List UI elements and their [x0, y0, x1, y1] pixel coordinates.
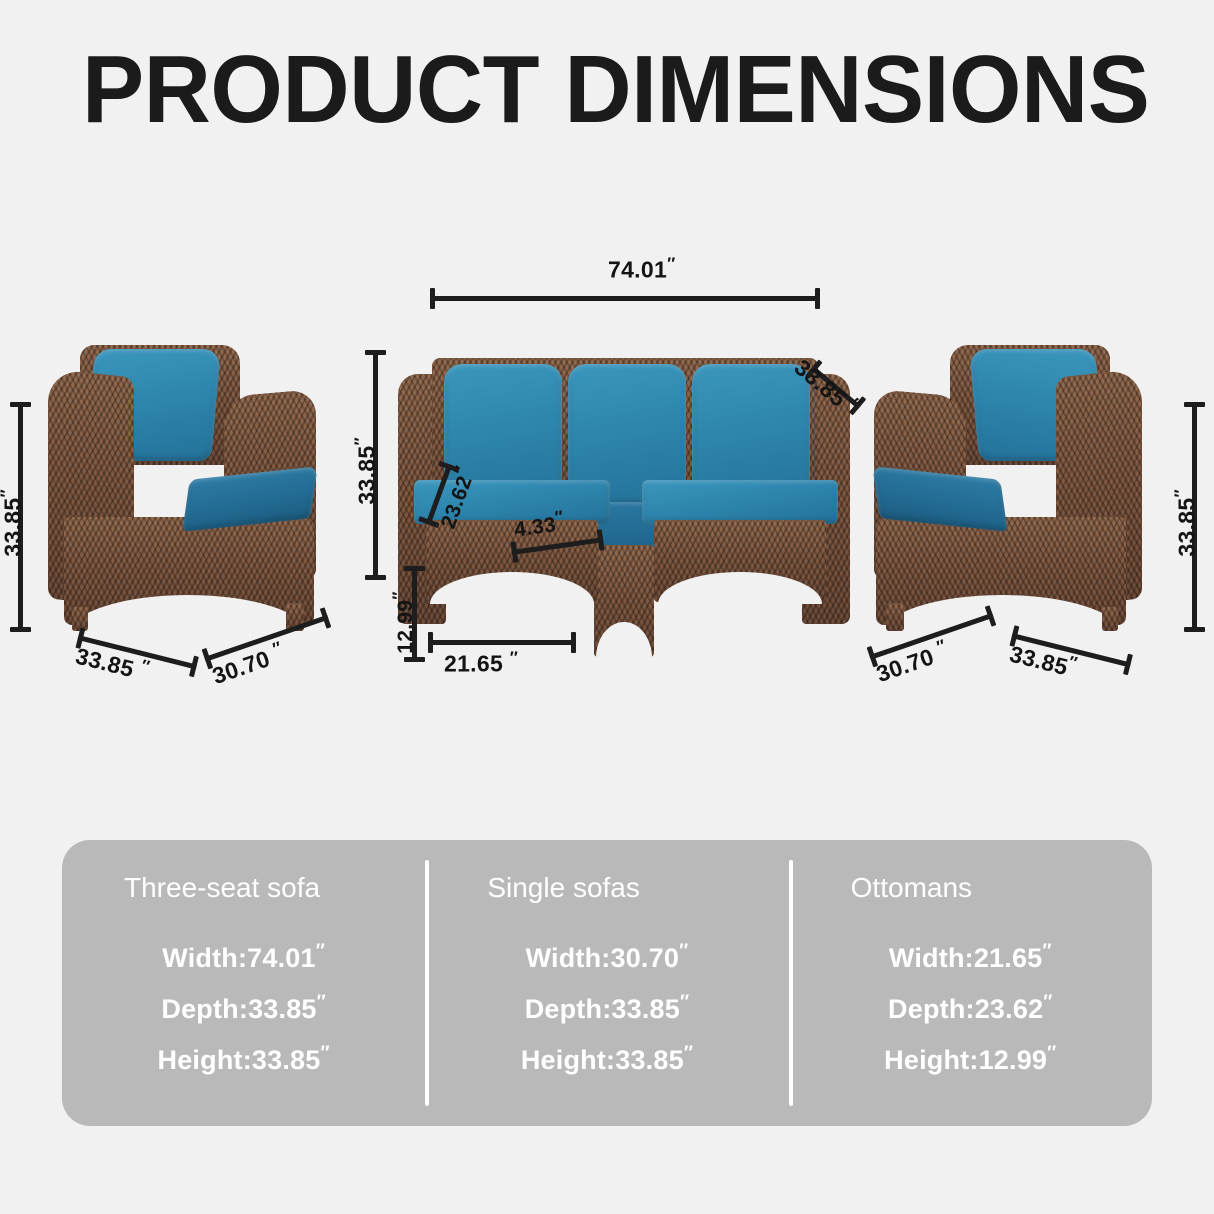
- ottoman-height-label: 12.99″: [389, 591, 418, 654]
- spec-row-width: Width:30.70″: [526, 941, 689, 974]
- chair-foot-right: [886, 603, 904, 631]
- spec-row-height: Height:33.85″: [158, 1043, 330, 1076]
- inch-mark: ″: [316, 941, 325, 962]
- furniture-diagram: 33.85″ 33.85 ″ 30.70 ″: [0, 230, 1214, 750]
- spec-label: Width:: [889, 943, 974, 973]
- infographic-canvas: PRODUCT DIMENSIONS 33.85″ 33.85 ″: [0, 0, 1214, 1214]
- ottoman-width-label: 21.65 ″: [444, 648, 518, 678]
- inch-mark: ″: [679, 941, 688, 962]
- inch-mark: ″: [320, 1043, 329, 1064]
- inch-mark: ″: [1042, 941, 1051, 962]
- spec-label: Height:: [521, 1045, 615, 1075]
- spec-label: Width:: [526, 943, 611, 973]
- spec-row-width: Width:74.01″: [162, 941, 325, 974]
- spec-value: 21.65: [974, 943, 1043, 973]
- spec-column-three-seat-sofa: Three-seat sofa Width:74.01″ Depth:33.85…: [62, 840, 425, 1126]
- inch-mark: ″: [1043, 992, 1052, 1013]
- spec-label: Width:: [162, 943, 247, 973]
- inch-mark: ″: [1047, 1043, 1056, 1064]
- spec-row-height: Height:33.85″: [521, 1043, 693, 1076]
- spec-row-depth: Depth:33.85″: [525, 992, 690, 1025]
- ottoman-width-line: [428, 640, 576, 645]
- inch-mark: ″: [684, 1043, 693, 1064]
- spec-panel: Three-seat sofa Width:74.01″ Depth:33.85…: [62, 840, 1152, 1126]
- spec-value: 30.70: [611, 943, 680, 973]
- sofa-width-line: [430, 296, 820, 301]
- ottoman-right-cushion: [642, 480, 838, 524]
- spec-label: Depth:: [888, 994, 975, 1024]
- spec-label: Height:: [158, 1045, 252, 1075]
- inch-mark: ″: [317, 992, 326, 1013]
- spec-label: Depth:: [161, 994, 248, 1024]
- spec-column-ottomans: Ottomans Width:21.65″ Depth:23.62″ Heigh…: [789, 840, 1152, 1126]
- spec-heading: Three-seat sofa: [124, 872, 320, 904]
- sofa-height-label: 33.85″: [351, 437, 381, 505]
- spec-row-width: Width:21.65″: [889, 941, 1052, 974]
- spec-label: Height:: [884, 1045, 978, 1075]
- right-single-sofa: [862, 345, 1162, 645]
- sofa-width-label: 74.01″: [608, 254, 676, 284]
- spec-heading: Single sofas: [487, 872, 640, 904]
- spec-value: 33.85: [611, 994, 680, 1024]
- spec-row-depth: Depth:23.62″: [888, 992, 1053, 1025]
- left-chair-height-label: 33.85″: [0, 489, 27, 557]
- chair-foot-left: [1102, 607, 1118, 631]
- spec-value: 33.85: [248, 994, 317, 1024]
- right-chair-height-label: 33.85″: [1171, 489, 1201, 557]
- left-single-sofa: [28, 345, 328, 645]
- spec-value: 23.62: [975, 994, 1044, 1024]
- inch-mark: ″: [680, 992, 689, 1013]
- spec-heading: Ottomans: [851, 872, 972, 904]
- page-title: PRODUCT DIMENSIONS: [82, 42, 1110, 138]
- spec-value: 74.01: [247, 943, 316, 973]
- spec-row-depth: Depth:33.85″: [161, 992, 326, 1025]
- spec-value: 12.99: [979, 1045, 1048, 1075]
- spec-value: 33.85: [252, 1045, 321, 1075]
- spec-label: Depth:: [525, 994, 612, 1024]
- spec-column-single-sofas: Single sofas Width:30.70″ Depth:33.85″ H…: [425, 840, 788, 1126]
- spec-row-height: Height:12.99″: [884, 1043, 1056, 1076]
- spec-value: 33.85: [615, 1045, 684, 1075]
- ottoman-right: [640, 480, 840, 602]
